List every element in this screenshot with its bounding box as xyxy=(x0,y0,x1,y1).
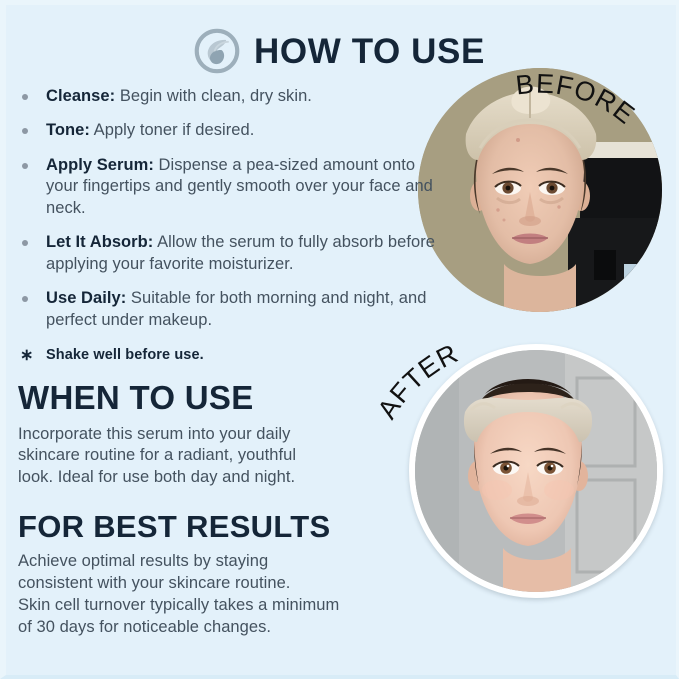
svg-text:BEFORE: BEFORE xyxy=(514,69,640,131)
after-caption-text: AFTER xyxy=(372,338,463,424)
bullet-icon xyxy=(22,94,28,100)
infographic-page: HOW TO USE xyxy=(0,0,679,679)
bullet-icon xyxy=(22,240,28,246)
step-term: Tone: xyxy=(46,121,90,139)
bullet-icon xyxy=(22,163,28,169)
step-term: Cleanse: xyxy=(46,87,115,105)
list-item: Cleanse: Begin with clean, dry skin. xyxy=(18,86,436,107)
list-item: Tone: Apply toner if desired. xyxy=(18,120,436,141)
list-item: Apply Serum: Dispense a pea-sized amount… xyxy=(18,155,436,219)
leaf-droplet-circle-logo-icon xyxy=(194,28,240,74)
after-caption: AFTER xyxy=(352,320,652,620)
bullet-icon xyxy=(22,128,28,134)
svg-text:AFTER: AFTER xyxy=(372,338,463,424)
bullet-icon xyxy=(22,296,28,302)
usage-steps-list: Cleanse: Begin with clean, dry skin. Ton… xyxy=(18,86,436,331)
list-item: Let It Absorb: Allow the serum to fully … xyxy=(18,232,436,275)
step-term: Use Daily: xyxy=(46,289,126,307)
step-term: Let It Absorb: xyxy=(46,233,153,251)
before-caption-text: BEFORE xyxy=(514,69,640,131)
before-caption: BEFORE xyxy=(410,58,674,322)
shake-note-text: Shake well before use. xyxy=(46,347,204,363)
asterisk-icon: ∗ xyxy=(20,348,34,364)
step-body: Begin with clean, dry skin. xyxy=(115,87,312,105)
step-term: Apply Serum: xyxy=(46,156,154,174)
step-body: Apply toner if desired. xyxy=(90,121,254,139)
